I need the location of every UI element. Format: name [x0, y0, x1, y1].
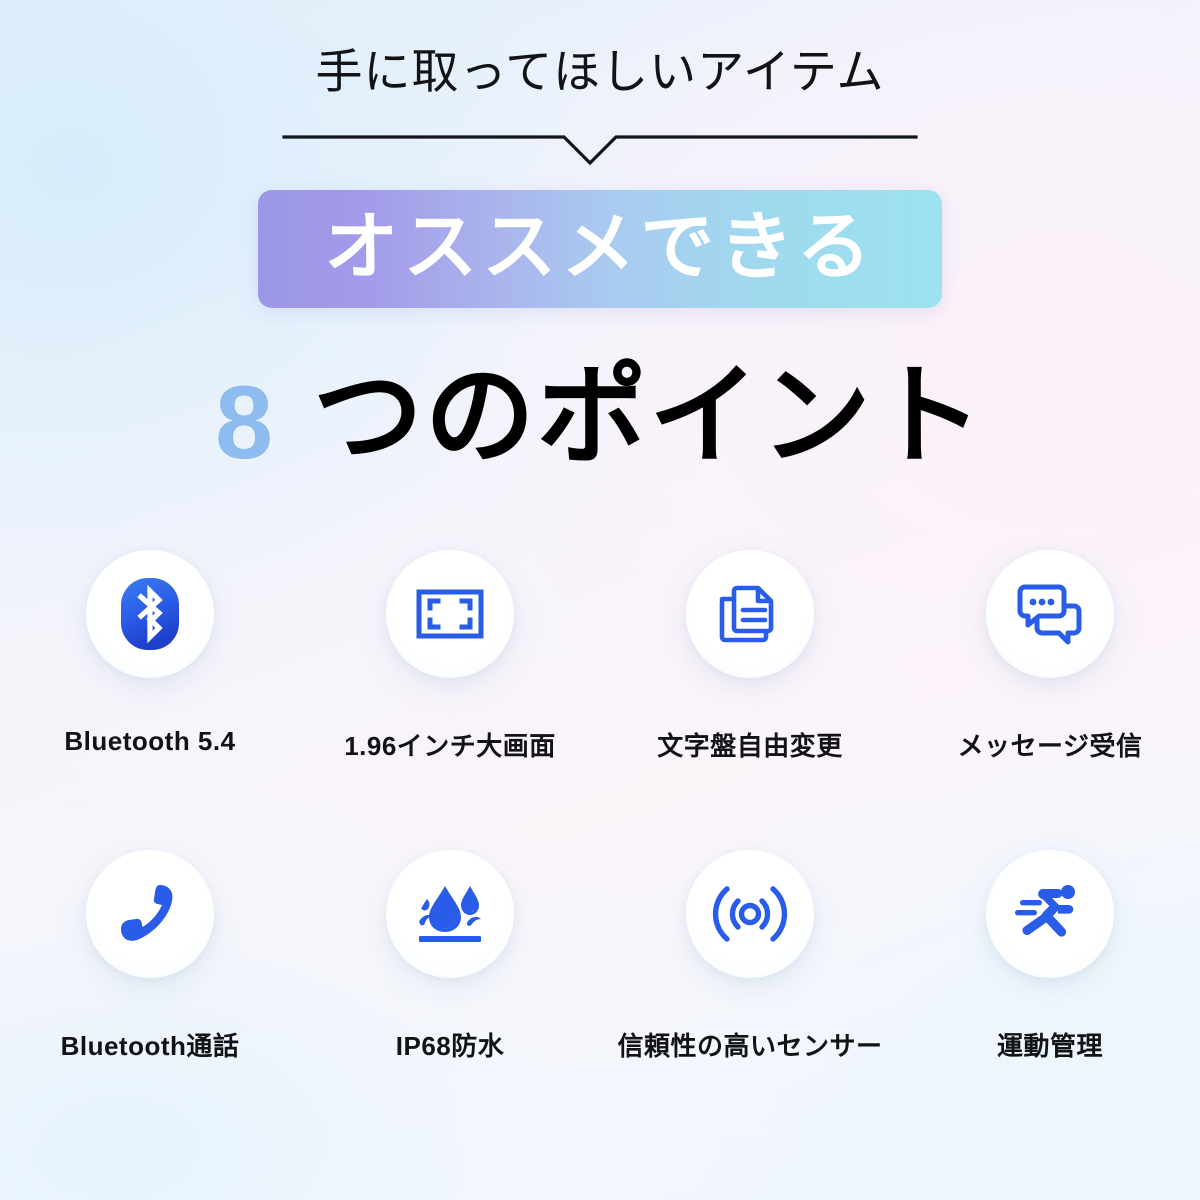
icon-disc [686, 550, 814, 678]
feature-item-sensor: 信頼性の高いセンサー [600, 840, 900, 1140]
icon-disc [386, 550, 514, 678]
message-bubbles-icon [1012, 576, 1088, 652]
feature-label: 1.96インチ大画面 [344, 726, 556, 763]
page-title-text: つのポイント [313, 355, 985, 478]
feature-item-messages: メッセージ受信 [900, 540, 1200, 840]
phone-call-icon [113, 877, 187, 951]
icon-disc [986, 850, 1114, 978]
feature-item-exercise: 運動管理 [900, 840, 1200, 1140]
feature-label: メッセージ受信 [958, 726, 1143, 763]
feature-label: 信頼性の高いセンサー [617, 1026, 882, 1063]
feature-item-large-screen: 1.96インチ大画面 [300, 540, 600, 840]
bluetooth-icon [111, 575, 189, 653]
feature-item-waterproof: IP68防水 [300, 840, 600, 1140]
waterproof-droplet-icon [412, 876, 488, 952]
header-kicker: 手に取ってほしいアイテム [0, 46, 1200, 99]
large-screen-icon [413, 577, 487, 651]
feature-grid: Bluetooth 5.4 1.96インチ大画面 [0, 540, 1200, 1140]
watch-face-documents-icon [713, 577, 787, 651]
feature-label: IP68防水 [396, 1026, 505, 1063]
feature-item-bluetooth: Bluetooth 5.4 [0, 540, 300, 840]
feature-label: 運動管理 [997, 1026, 1103, 1063]
sensor-signal-icon [711, 875, 789, 953]
icon-disc [86, 850, 214, 978]
feature-item-phone-call: Bluetooth通話 [0, 840, 300, 1140]
icon-disc [986, 550, 1114, 678]
promo-page: 手に取ってほしいアイテム オススメできる 8つのポイント [0, 0, 1200, 1200]
page-title: 8つのポイント [0, 362, 1200, 475]
feature-label: Bluetooth 5.4 [64, 726, 235, 757]
recommendation-badge-label: オススメできる [324, 210, 876, 284]
feature-item-watch-face: 文字盤自由変更 [600, 540, 900, 840]
icon-disc [86, 550, 214, 678]
feature-label: Bluetooth通話 [61, 1026, 240, 1063]
running-person-icon [1011, 875, 1089, 953]
feature-label: 文字盤自由変更 [657, 726, 843, 763]
point-count: 8 [215, 365, 273, 481]
chevron-down-divider-icon [280, 121, 920, 169]
recommendation-badge: オススメできる [258, 190, 942, 308]
header: 手に取ってほしいアイテム [0, 46, 1200, 169]
icon-disc [686, 850, 814, 978]
icon-disc [386, 850, 514, 978]
